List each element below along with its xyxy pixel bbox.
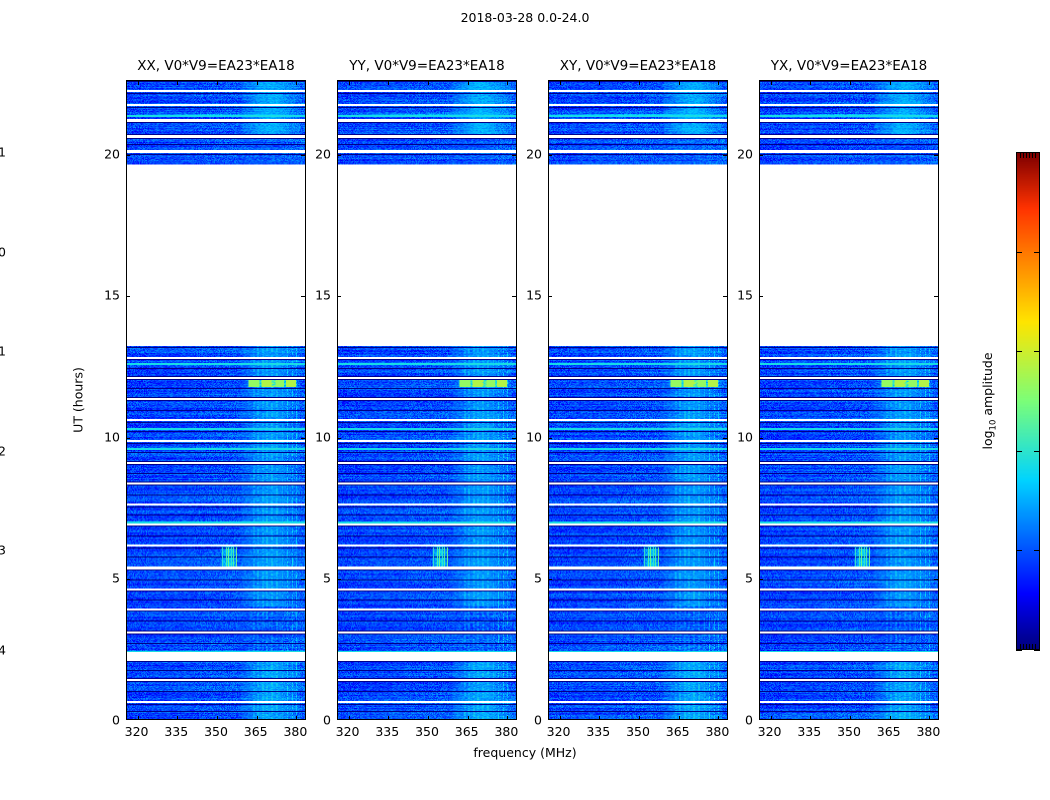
y-tick: [337, 579, 341, 580]
colorbar-minor-tick: [1032, 153, 1033, 158]
colorbar-minor-tick: [1026, 153, 1027, 158]
panel-title-yy: YY, V0*V9=EA23*EA18: [349, 58, 504, 74]
x-tick: [560, 716, 561, 720]
x-tick: [679, 716, 680, 720]
x-tick-label: 335: [586, 724, 610, 739]
y-tick-label: 10: [514, 429, 542, 444]
y-tick-label: 15: [725, 288, 753, 303]
colorbar-tick: [1016, 351, 1022, 352]
y-tick-label: 20: [303, 146, 331, 161]
x-tick-top: [349, 81, 350, 85]
x-tick: [138, 716, 139, 720]
x-tick-label: 335: [797, 724, 821, 739]
y-tick-label: 15: [303, 288, 331, 303]
y-tick: [548, 296, 552, 297]
colorbar-label-main: log: [980, 430, 995, 449]
y-tick-label: 5: [92, 571, 120, 586]
y-tick: [126, 579, 130, 580]
y-tick-label: 20: [725, 146, 753, 161]
colorbar-label-tail: amplitude: [980, 352, 995, 419]
colorbar-tick-right: [1034, 550, 1040, 551]
y-tick-label: 0: [725, 713, 753, 728]
x-tick-label: 365: [244, 724, 268, 739]
colorbar-label-sub: 10: [988, 420, 998, 431]
x-tick-top: [599, 81, 600, 85]
colorbar: [1016, 152, 1040, 650]
y-tick: [337, 155, 341, 156]
colorbar-minor-tick: [1020, 153, 1021, 158]
x-tick-top: [468, 81, 469, 85]
y-tick: [126, 155, 130, 156]
figure-suptitle: 2018-03-28 0.0-24.0: [0, 10, 1050, 25]
x-tick-label: 365: [877, 724, 901, 739]
x-tick: [599, 716, 600, 720]
y-tick-label: 5: [514, 571, 542, 586]
colorbar-tick-right: [1034, 351, 1040, 352]
x-tick-top: [388, 81, 389, 85]
colorbar-minor-tick: [1023, 644, 1024, 649]
y-tick-right: [934, 155, 938, 156]
x-tick-top: [929, 81, 930, 85]
y-tick-label: 0: [514, 713, 542, 728]
x-tick: [929, 716, 930, 720]
x-tick-label: 320: [547, 724, 571, 739]
x-tick: [428, 716, 429, 720]
colorbar-minor-tick: [1035, 644, 1036, 649]
waterfall-panel-xy: XY, V0*V9=EA23*EA18320335350365380051015…: [548, 80, 728, 720]
waterfall-panel-yy: YY, V0*V9=EA23*EA18320335350365380051015…: [337, 80, 517, 720]
waterfall-image-yx: [760, 81, 938, 719]
y-tick: [126, 296, 130, 297]
x-tick-label: 350: [626, 724, 650, 739]
y-tick-label: 10: [92, 429, 120, 444]
waterfall-image-xy: [549, 81, 727, 719]
colorbar-minor-tick: [1026, 644, 1027, 649]
y-tick: [548, 155, 552, 156]
x-tick: [639, 716, 640, 720]
y-tick: [759, 438, 763, 439]
x-tick-top: [296, 81, 297, 85]
figure-canvas: 2018-03-28 0.0-24.0 XX, V0*V9=EA23*EA183…: [0, 0, 1050, 800]
x-tick: [850, 716, 851, 720]
colorbar-minor-tick: [1023, 153, 1024, 158]
y-tick: [548, 579, 552, 580]
y-tick: [337, 438, 341, 439]
panel-title-xx: XX, V0*V9=EA23*EA18: [137, 58, 294, 74]
x-tick-label: 350: [415, 724, 439, 739]
x-tick-top: [890, 81, 891, 85]
x-tick-top: [428, 81, 429, 85]
x-tick: [349, 716, 350, 720]
x-tick-label: 320: [758, 724, 782, 739]
y-tick-label: 5: [725, 571, 753, 586]
colorbar-tick-right: [1034, 650, 1040, 651]
x-axis-label: frequency (MHz): [0, 745, 1050, 760]
panel-title-yx: YX, V0*V9=EA23*EA18: [771, 58, 927, 74]
colorbar-minor-tick: [1032, 644, 1033, 649]
colorbar-tick-label: -2: [0, 443, 6, 458]
x-tick: [810, 716, 811, 720]
x-tick-label: 350: [204, 724, 228, 739]
colorbar-tick-label: 1: [0, 145, 6, 160]
x-tick-top: [217, 81, 218, 85]
x-tick-label: 335: [164, 724, 188, 739]
y-tick: [759, 155, 763, 156]
colorbar-tick-label: 0: [0, 244, 6, 259]
x-tick: [257, 716, 258, 720]
plot-area-yx[interactable]: [759, 80, 939, 720]
waterfall-panel-xx: XX, V0*V9=EA23*EA18320335350365380051015…: [126, 80, 306, 720]
plot-area-yy[interactable]: [337, 80, 517, 720]
x-tick-top: [560, 81, 561, 85]
y-tick-label: 5: [303, 571, 331, 586]
y-tick-right: [934, 579, 938, 580]
colorbar-tick-label: -4: [0, 643, 6, 658]
colorbar-tick: [1016, 451, 1022, 452]
x-tick-label: 320: [336, 724, 360, 739]
y-tick-right: [934, 438, 938, 439]
colorbar-tick: [1016, 550, 1022, 551]
colorbar-tick-label: -1: [0, 344, 6, 359]
x-tick-label: 335: [375, 724, 399, 739]
x-tick-top: [138, 81, 139, 85]
colorbar-tick-label: -3: [0, 543, 6, 558]
colorbar-label: log10 amplitude: [980, 352, 999, 449]
x-tick: [718, 716, 719, 720]
y-tick-label: 15: [514, 288, 542, 303]
x-tick-top: [507, 81, 508, 85]
colorbar-minor-tick: [1020, 644, 1021, 649]
x-tick: [217, 716, 218, 720]
x-tick: [507, 716, 508, 720]
x-tick: [890, 716, 891, 720]
plot-area-xx[interactable]: [126, 80, 306, 720]
x-tick-label: 365: [455, 724, 479, 739]
colorbar-tick: [1016, 650, 1022, 651]
colorbar-tick-right: [1034, 252, 1040, 253]
x-tick: [468, 716, 469, 720]
y-tick: [337, 296, 341, 297]
plot-area-xy[interactable]: [548, 80, 728, 720]
x-tick-top: [718, 81, 719, 85]
panel-title-xy: XY, V0*V9=EA23*EA18: [560, 58, 716, 74]
x-tick-top: [850, 81, 851, 85]
x-tick-label: 320: [125, 724, 149, 739]
x-tick-top: [177, 81, 178, 85]
x-tick-top: [679, 81, 680, 85]
x-tick-top: [257, 81, 258, 85]
colorbar-minor-tick: [1029, 644, 1030, 649]
colorbar-tick: [1016, 252, 1022, 253]
y-tick: [548, 438, 552, 439]
x-tick: [177, 716, 178, 720]
colorbar-tick-right: [1034, 451, 1040, 452]
x-tick-label: 365: [666, 724, 690, 739]
y-tick: [759, 579, 763, 580]
y-tick: [126, 438, 130, 439]
y-tick-label: 20: [514, 146, 542, 161]
x-tick-top: [771, 81, 772, 85]
y-tick-label: 15: [92, 288, 120, 303]
y-axis-label: UT (hours): [71, 367, 86, 433]
y-tick-label: 0: [92, 713, 120, 728]
colorbar-tick: [1016, 152, 1022, 153]
y-tick-label: 20: [92, 146, 120, 161]
colorbar-minor-tick: [1029, 153, 1030, 158]
colorbar-minor-tick: [1035, 153, 1036, 158]
x-tick-label: 350: [837, 724, 861, 739]
y-tick-right: [934, 296, 938, 297]
y-tick-label: 10: [725, 429, 753, 444]
x-tick: [388, 716, 389, 720]
y-tick-label: 10: [303, 429, 331, 444]
waterfall-panel-yx: YX, V0*V9=EA23*EA18320335350365380051015…: [759, 80, 939, 720]
waterfall-image-yy: [338, 81, 516, 719]
x-tick-top: [810, 81, 811, 85]
waterfall-image-xx: [127, 81, 305, 719]
x-tick-top: [639, 81, 640, 85]
x-tick: [771, 716, 772, 720]
x-tick-label: 380: [916, 724, 940, 739]
y-tick-label: 0: [303, 713, 331, 728]
x-tick: [296, 716, 297, 720]
y-tick: [759, 296, 763, 297]
